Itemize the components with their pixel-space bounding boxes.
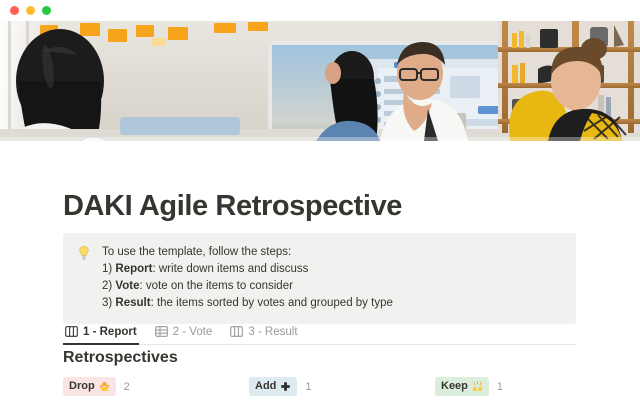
step-2-desc: : vote on the items to consider xyxy=(140,280,293,292)
board-view-icon xyxy=(230,325,243,338)
close-window-button[interactable] xyxy=(10,6,19,15)
table-view-icon xyxy=(155,325,168,338)
cover-image[interactable] xyxy=(0,21,640,141)
step-3-desc: : the items sorted by votes and grouped … xyxy=(151,297,393,309)
column-count-keep: 1 xyxy=(497,381,503,393)
step-1-label: Report xyxy=(115,263,152,275)
speech-balloon-icon[interactable] xyxy=(70,134,118,141)
callout-line-report: 1) Report: write down items and discuss xyxy=(102,261,393,278)
column-chip-add[interactable]: Add xyxy=(249,377,297,396)
column-label-add: Add xyxy=(255,379,276,394)
callout-line-result: 3) Result: the items sorted by votes and… xyxy=(102,295,393,312)
column-label-keep: Keep xyxy=(441,379,468,394)
minimize-window-button[interactable] xyxy=(26,6,35,15)
step-3-label: Result xyxy=(115,297,150,309)
step-3-prefix: 3) xyxy=(102,297,115,309)
callout-block[interactable]: To use the template, follow the steps: 1… xyxy=(63,233,576,324)
view-tabs: 1 - Report 2 - Vote 3 - Res xyxy=(63,323,576,345)
board-view-icon xyxy=(65,325,78,338)
board-column-add: Add 1 xyxy=(249,377,435,396)
board-title: Retrospectives xyxy=(63,347,178,368)
tab-result[interactable]: 3 - Result xyxy=(228,323,299,345)
callout-line-vote: 2) Vote: vote on the items to consider xyxy=(102,278,393,295)
callout-text: To use the template, follow the steps: 1… xyxy=(102,244,393,312)
tab-result-label: 3 - Result xyxy=(248,326,297,338)
column-count-add: 1 xyxy=(305,381,311,393)
step-2-prefix: 2) xyxy=(102,280,115,292)
callout-line-intro: To use the template, follow the steps: xyxy=(102,244,393,261)
raising-hands-icon xyxy=(472,381,483,392)
window-controls xyxy=(10,6,51,15)
board-column-drop: Drop 2 xyxy=(63,377,249,396)
tab-vote-label: 2 - Vote xyxy=(173,326,213,338)
step-2-label: Vote xyxy=(115,280,139,292)
tab-report-label: 1 - Report xyxy=(83,326,137,338)
tab-report[interactable]: 1 - Report xyxy=(63,323,139,345)
window-titlebar xyxy=(0,0,640,21)
tab-vote[interactable]: 2 - Vote xyxy=(153,323,215,345)
no-good-gesture-icon xyxy=(99,381,110,392)
heavy-plus-sign-icon xyxy=(280,381,291,392)
column-label-drop: Drop xyxy=(69,379,95,394)
page-title: DAKI Agile Retrospective xyxy=(63,189,402,223)
cover-photo xyxy=(0,21,640,141)
column-count-drop: 2 xyxy=(124,381,130,393)
step-1-prefix: 1) xyxy=(102,263,115,275)
step-1-desc: : write down items and discuss xyxy=(152,263,308,275)
page-content: DAKI Agile Retrospective To use the temp… xyxy=(0,141,640,400)
board-columns: Drop 2 Add xyxy=(63,377,623,396)
column-chip-keep[interactable]: Keep xyxy=(435,377,489,396)
maximize-window-button[interactable] xyxy=(42,6,51,15)
light-bulb-icon xyxy=(75,244,93,262)
column-chip-drop[interactable]: Drop xyxy=(63,377,116,396)
board-column-keep: Keep 1 xyxy=(435,377,621,396)
